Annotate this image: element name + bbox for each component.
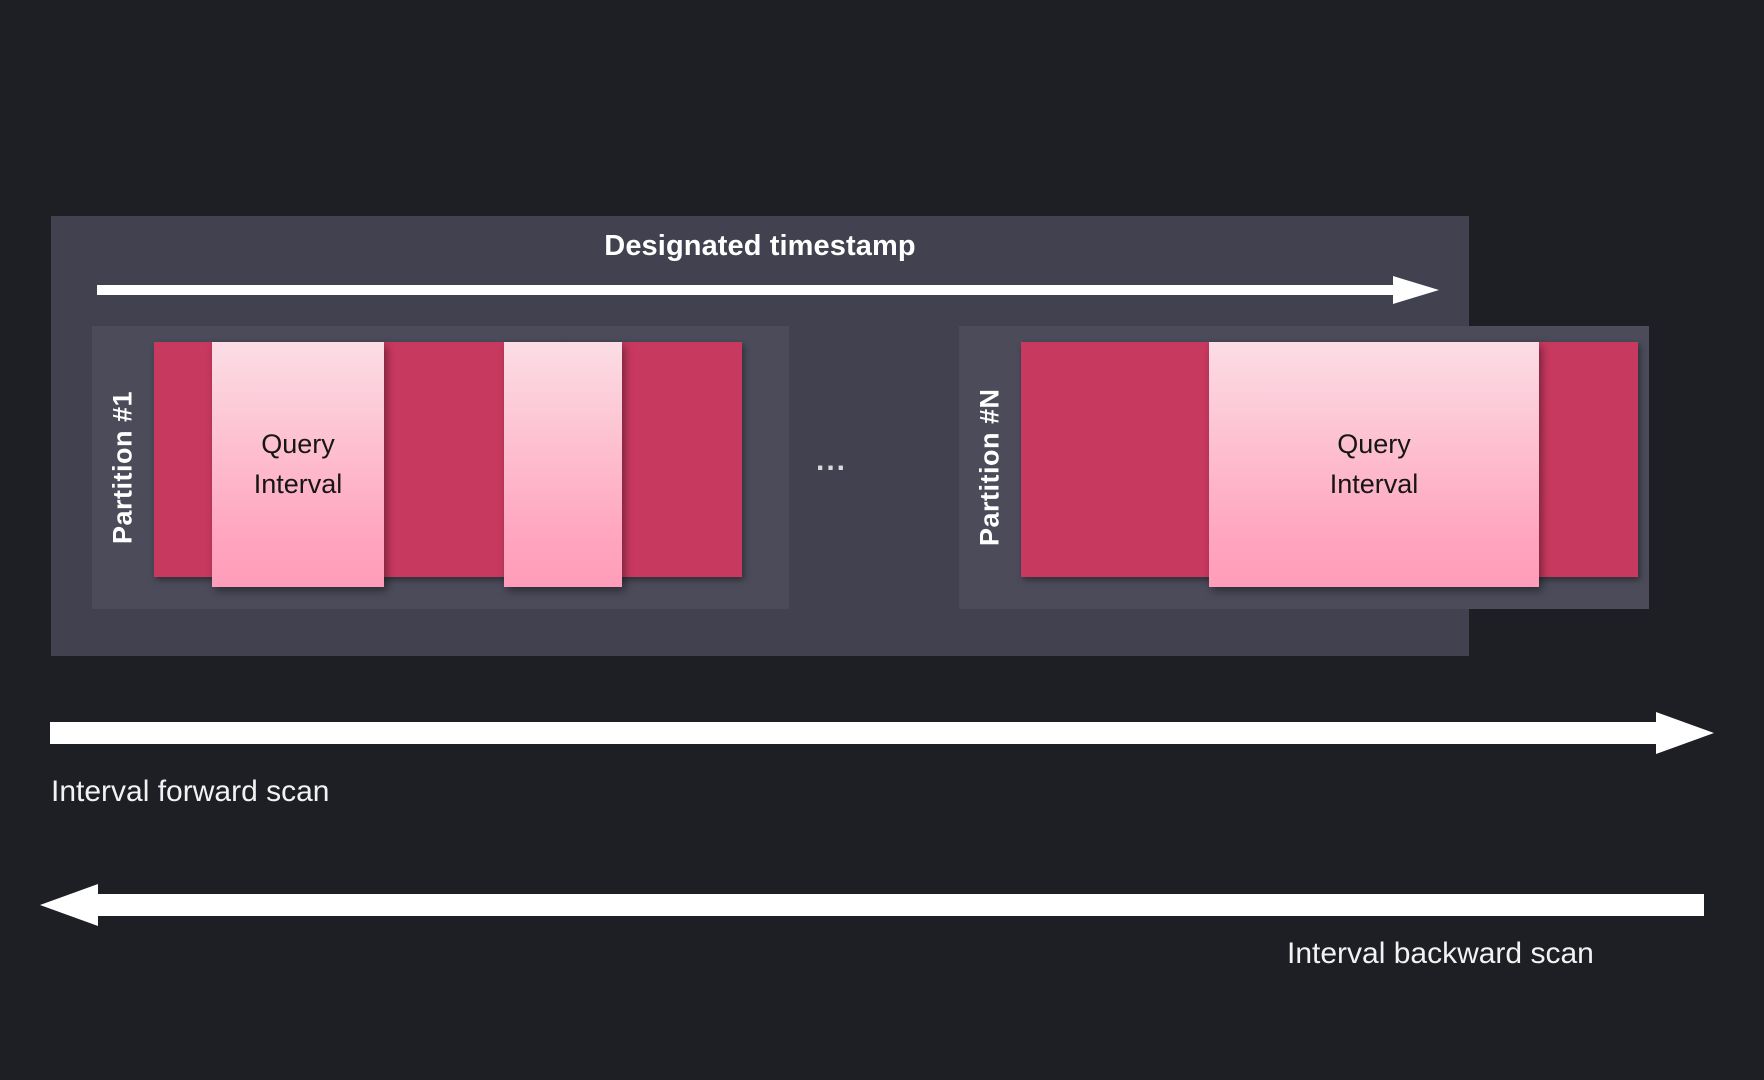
interval-backward-scan-arrow bbox=[40, 884, 1704, 926]
diagram-canvas: Designated timestamp Partition #1 Query … bbox=[0, 0, 1764, 1080]
partition-n-bars: Query Interval bbox=[1021, 342, 1643, 592]
partition-label-1: Partition #1 bbox=[92, 326, 154, 609]
partition-block-n: Partition #N Query Interval bbox=[959, 326, 1649, 609]
ellipsis-separator: ... bbox=[816, 444, 847, 478]
partition-label-n: Partition #N bbox=[959, 326, 1021, 609]
query-interval-line1: Query bbox=[1337, 429, 1411, 459]
partition-block-1: Partition #1 Query Interval bbox=[92, 326, 789, 609]
designated-timestamp-panel: Designated timestamp Partition #1 Query … bbox=[51, 216, 1469, 656]
interval-forward-scan-label: Interval forward scan bbox=[51, 775, 329, 809]
partition-1-bars: Query Interval bbox=[154, 342, 783, 592]
interval-backward-scan-label: Interval backward scan bbox=[1287, 937, 1594, 971]
query-interval-line1: Query bbox=[261, 429, 335, 459]
designated-timestamp-arrow bbox=[97, 276, 1439, 304]
query-interval-line2: Interval bbox=[254, 469, 343, 499]
page-title: Designated timestamp bbox=[51, 230, 1469, 263]
interval-forward-scan-arrow bbox=[50, 712, 1714, 754]
query-interval-bar: Query Interval bbox=[212, 342, 384, 587]
query-interval-line2: Interval bbox=[1330, 469, 1419, 499]
query-interval-bar bbox=[504, 342, 622, 587]
query-interval-bar: Query Interval bbox=[1209, 342, 1539, 587]
